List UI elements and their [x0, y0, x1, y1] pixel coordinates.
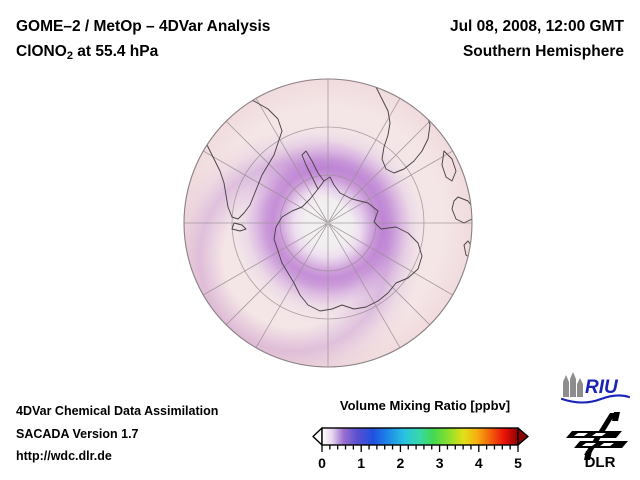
colorbar: Volume Mixing Ratio [ppbv] 012345: [305, 398, 545, 476]
species-subscript: 2: [67, 50, 73, 62]
colorbar-right-arrow-icon: [518, 428, 528, 445]
header-left: GOME–2 / MetOp – 4DVar Analysis ClONO2 a…: [16, 14, 270, 66]
colorbar-tick-label: 1: [357, 455, 365, 471]
colorbar-tick-label: 2: [397, 455, 405, 471]
pressure-level: at 55.4 hPa: [73, 43, 158, 60]
riu-bars-icon: [563, 372, 583, 397]
colorbar-tick-label: 0: [318, 455, 326, 471]
header-right: Jul 08, 2008, 12:00 GMT Southern Hemisph…: [450, 14, 624, 64]
species-level-line: ClONO2 at 55.4 hPa: [16, 39, 270, 66]
globe-svg: [182, 77, 474, 369]
coastline-limb-fragment: [368, 363, 388, 369]
credit-line-2: SACADA Version 1.7: [16, 423, 218, 446]
figure-title: GOME–2 / MetOp – 4DVar Analysis: [16, 14, 270, 39]
colorbar-tick-label: 3: [436, 455, 444, 471]
colorbar-ticks: [322, 445, 518, 452]
colorbar-left-arrow-icon: [313, 428, 322, 445]
colorbar-tick-label: 4: [475, 455, 483, 471]
region-label: Southern Hemisphere: [450, 39, 624, 64]
figure-root: GOME–2 / MetOp – 4DVar Analysis ClONO2 a…: [0, 0, 640, 480]
riu-logo: RIU: [557, 371, 633, 405]
dlr-emblem-icon: [566, 412, 628, 460]
globe-map: [182, 77, 474, 369]
colorbar-title: Volume Mixing Ratio [ppbv]: [305, 398, 545, 413]
south-pole-marker: [326, 221, 330, 225]
dlr-wordmark: DLR: [585, 454, 616, 469]
dlr-logo: DLR: [566, 411, 634, 469]
credit-line-3[interactable]: http://wdc.dlr.de: [16, 445, 218, 468]
colorbar-body: [313, 428, 528, 445]
colorbar-gradient: [322, 428, 518, 445]
datetime-label: Jul 08, 2008, 12:00 GMT: [450, 14, 624, 39]
colorbar-svg: 012345: [305, 417, 545, 473]
footer-credits: 4DVar Chemical Data Assimilation SACADA …: [16, 400, 218, 468]
species-name: ClONO: [16, 43, 67, 60]
colorbar-tick-labels: 012345: [318, 455, 522, 471]
credit-line-1: 4DVar Chemical Data Assimilation: [16, 400, 218, 423]
colorbar-tick-label: 5: [514, 455, 522, 471]
